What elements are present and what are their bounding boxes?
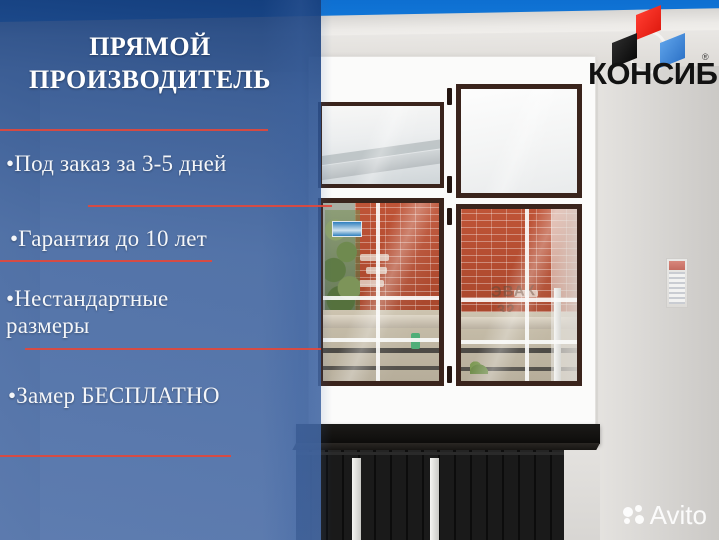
pane-glass-bright — [461, 89, 577, 193]
logo-wordmark: КОНСИБ — [588, 56, 717, 92]
advertisement-banner: ЭВАК 32 — [0, 0, 719, 540]
pane-glass-reflection — [322, 106, 440, 184]
radiator-pipe — [430, 458, 439, 540]
brick-patch — [360, 254, 388, 262]
curb — [323, 315, 439, 327]
accent-rule-3 — [0, 260, 212, 262]
window-hinge — [447, 176, 452, 193]
window-pane-bottom-left — [318, 198, 444, 386]
accent-rule-2 — [88, 205, 332, 207]
feature-item-1: •Под заказ за 3-5 дней — [6, 150, 306, 177]
window-pane-top-left — [318, 102, 444, 188]
weeds — [470, 352, 488, 374]
guard-rail-lower — [323, 366, 439, 370]
avito-wordmark: Avito — [650, 502, 707, 528]
feature-item-2: •Гарантия до 10 лет — [10, 225, 310, 252]
company-logo: КОНСИБ ® — [592, 6, 712, 94]
headline-line-2: ПРОИЗВОДИТЕЛЬ — [0, 63, 300, 96]
accent-rule-4 — [25, 348, 321, 350]
window-unit: ЭВАК 32 — [308, 56, 596, 426]
avito-watermark: Avito — [623, 500, 707, 530]
glazing-bar-horizontal — [461, 340, 577, 344]
window-pane-top-right — [456, 84, 582, 198]
window-hinge — [447, 208, 452, 225]
feature-item-3-label: Нестандартные размеры — [6, 286, 168, 338]
feature-item-3: •Нестандартные размеры — [6, 285, 266, 339]
accent-rule-1 — [0, 129, 268, 131]
glazing-bar-horizontal — [323, 338, 439, 342]
window-sill — [296, 424, 600, 444]
headline-line-1: ПРЯМОЙ — [0, 30, 300, 63]
blue-sign — [332, 221, 362, 237]
outdoor-scene-right: ЭВАК 32 — [461, 209, 577, 381]
logo-registered-mark: ® — [702, 52, 709, 62]
radiator-pipe — [352, 458, 361, 540]
window-hinge — [447, 366, 452, 383]
window-hinge — [447, 88, 452, 105]
outdoor-scene-left — [323, 203, 439, 381]
headline: ПРЯМОЙ ПРОИЗВОДИТЕЛЬ — [0, 30, 300, 97]
feature-item-4: •Замер БЕСПЛАТНО — [8, 382, 308, 409]
window-sill-lip — [292, 443, 600, 450]
towel-rail — [666, 258, 688, 308]
feature-item-2-label: Гарантия до 10 лет — [18, 226, 207, 251]
glazing-bar-vertical — [376, 203, 380, 381]
glazing-bar-horizontal — [461, 298, 577, 302]
right-wall-panel — [596, 46, 719, 540]
feature-item-1-label: Под заказ за 3-5 дней — [14, 151, 226, 176]
accent-rule-5 — [0, 455, 231, 457]
window-pane-bottom-right: ЭВАК 32 — [456, 204, 582, 386]
feature-item-4-label: Замер БЕСПЛАТНО — [16, 383, 219, 408]
glazing-bar-horizontal — [323, 296, 439, 300]
guard-rail — [323, 348, 439, 353]
avito-logo-icon — [623, 505, 645, 525]
glazing-bar-vertical — [525, 209, 529, 381]
